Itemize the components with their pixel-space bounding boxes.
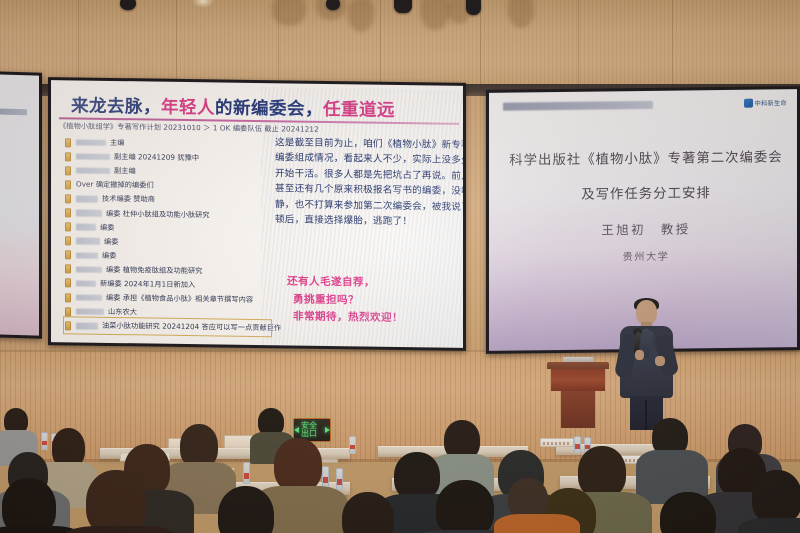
slide-title-seg-4: 任重道远: [323, 100, 395, 121]
slide-title-seg-2: 年轻人: [161, 98, 215, 119]
audience-member: [744, 470, 800, 533]
slide-callout-line: 还有人毛遂自荐，: [287, 273, 457, 293]
slide-callout-lines: 还有人毛遂自荐，勇挑重担吗？非常期待，热烈欢迎！: [287, 273, 457, 328]
person-head: [436, 480, 494, 533]
redacted-name: [76, 196, 98, 203]
editorial-board-role: 编委 承担《植物食品小肽》相关章节撰写内容: [106, 293, 253, 305]
sponsor-logo: 中科新生命: [744, 98, 787, 108]
person-torso: [62, 526, 178, 533]
podium: [547, 362, 609, 428]
sponsor-logo-label: 中科新生命: [755, 98, 787, 107]
list-bullet-icon: [65, 279, 71, 288]
title-slide-line-1: 科学出版社《植物小肽》专著第二次编委会: [489, 145, 797, 169]
person-head: [342, 492, 394, 533]
water-bottle: [349, 436, 356, 454]
list-bullet-icon: [65, 194, 71, 203]
sponsor-logo-icon: [744, 99, 753, 108]
redacted-name: [76, 322, 98, 329]
audience-member: [62, 470, 172, 533]
podium-body: [551, 369, 605, 391]
editorial-board-row: 油菜小肽功能研究 20241204 答应可以写一点贡献巨作: [65, 319, 270, 336]
title-slide-text-block: 科学出版社《植物小肽》专著第二次编委会 及写作任务分工安排 王旭初 教授 贵州大…: [489, 145, 797, 265]
redacted-name: [76, 294, 102, 301]
editorial-board-role: 技术编委 赞助商: [102, 194, 155, 205]
editorial-board-role: 山东农大: [108, 307, 137, 317]
redacted-name: [76, 238, 100, 245]
audience-member: [636, 492, 746, 533]
redacted-name: [76, 167, 110, 174]
slide-callout-line: 非常期待，热烈欢迎！: [287, 309, 457, 329]
person-head: [86, 470, 146, 533]
exit-sign-label: 安全出口: [301, 422, 323, 438]
redacted-name: [76, 210, 102, 217]
redacted-name: [76, 153, 110, 160]
person-torso: [494, 514, 580, 533]
editorial-board-role: 编委: [104, 237, 118, 247]
list-bullet-icon: [65, 208, 71, 217]
water-bottle: [243, 462, 250, 484]
list-bullet-icon: [65, 237, 71, 246]
redacted-name: [76, 252, 98, 259]
audience-member: [498, 478, 568, 533]
wall-seam: [480, 0, 481, 92]
person-head: [660, 492, 716, 533]
editorial-board-list: 主编副主编 20241209 犹豫中副主编Over 确定撤掉的编委们技术编委 赞…: [65, 135, 270, 335]
main-projection-screen: 来龙去脉，年轻人的新编委会，任重道远 《植物小肽组学》专著写作计划 202310…: [48, 77, 466, 351]
redacted-name: [76, 139, 106, 146]
list-bullet-icon: [65, 265, 71, 274]
wall-seam: [380, 0, 381, 92]
slide-body-line: 顿后，直接选择爆胎，逃跑了！: [275, 212, 455, 230]
wall-seam: [672, 0, 673, 92]
person-head: [2, 478, 56, 533]
list-bullet-icon: [65, 166, 71, 175]
speaker-left-hand: [635, 350, 644, 360]
ceiling-spotlight: [466, 0, 481, 15]
ceiling-spotlight: [394, 0, 412, 13]
auxiliary-projection-screen: [0, 71, 42, 338]
presenter-name: 王旭初 教授: [489, 218, 797, 240]
redacted-name: [76, 224, 96, 231]
podium-base: [561, 391, 595, 428]
editorial-board-role: 副主编: [114, 166, 136, 176]
person-head: [752, 470, 800, 524]
slide-title-seg-3: 的新编委会，: [215, 98, 323, 120]
editorial-board-role: 副主编 20241209 犹豫中: [114, 152, 199, 163]
auxiliary-screen-text-blur: [0, 108, 27, 115]
audience-member: [196, 486, 300, 533]
editorial-board-role: 编委 杜仲小肽组及功能小肽研究: [106, 208, 210, 219]
list-bullet-icon: [65, 321, 71, 330]
list-bullet-icon: [65, 251, 71, 260]
list-bullet-icon: [65, 222, 71, 231]
presenter-affiliation: 贵州大学: [489, 246, 797, 265]
podium-top: [547, 362, 609, 369]
redacted-name: [76, 308, 104, 315]
list-bullet-icon: [65, 307, 71, 316]
editorial-board-role: 编委: [100, 222, 114, 232]
slide-body-paragraph: 这是截至目前为止，咱们《植物小肽》新专著的编委组成情况，看起来人不少，实际上没多…: [275, 135, 455, 230]
editorial-board-role: Over 确定撤掉的编委们: [76, 180, 154, 191]
editorial-board-role: 主编: [110, 138, 124, 148]
person-head: [274, 438, 322, 492]
editorial-board-role: 新编委 2024年1月1日新加入: [100, 279, 195, 290]
speaker: [608, 300, 686, 428]
person-head: [218, 486, 274, 533]
conference-banner-text-blur: [503, 101, 653, 111]
slide-title-seg-1: 来龙去脉，: [71, 96, 161, 117]
redacted-name: [76, 266, 102, 273]
editorial-board-role: 编委 植物免疫肽组及功能研究: [106, 265, 202, 276]
conference-hall-photo: 来龙去脉，年轻人的新编委会，任重道远 《植物小肽组学》专著写作计划 202310…: [0, 0, 800, 533]
list-bullet-icon: [65, 180, 71, 189]
ceiling-spotlight: [326, 0, 340, 10]
exit-arrow-left-icon: [294, 427, 299, 433]
redacted-name: [76, 280, 96, 287]
list-bullet-icon: [65, 152, 71, 161]
editorial-board-role: 编委: [102, 251, 116, 261]
wall-seam: [578, 0, 579, 92]
audience-member: [322, 492, 418, 533]
list-bullet-icon: [65, 293, 71, 302]
list-bullet-icon: [65, 138, 71, 147]
editorial-board-role: 油菜小肽功能研究 20241204 答应可以写一点贡献巨作: [102, 321, 281, 334]
title-slide-line-2: 及写作任务分工安排: [489, 180, 797, 204]
main-slide-surface: 来龙去脉，年轻人的新编委会，任重道远 《植物小肽组学》专著写作计划 202310…: [51, 80, 463, 348]
exit-arrow-right-icon: [325, 427, 330, 433]
speaker-right-hand: [655, 356, 665, 366]
person-torso: [738, 518, 800, 533]
auxiliary-screen-surface: [0, 74, 39, 335]
